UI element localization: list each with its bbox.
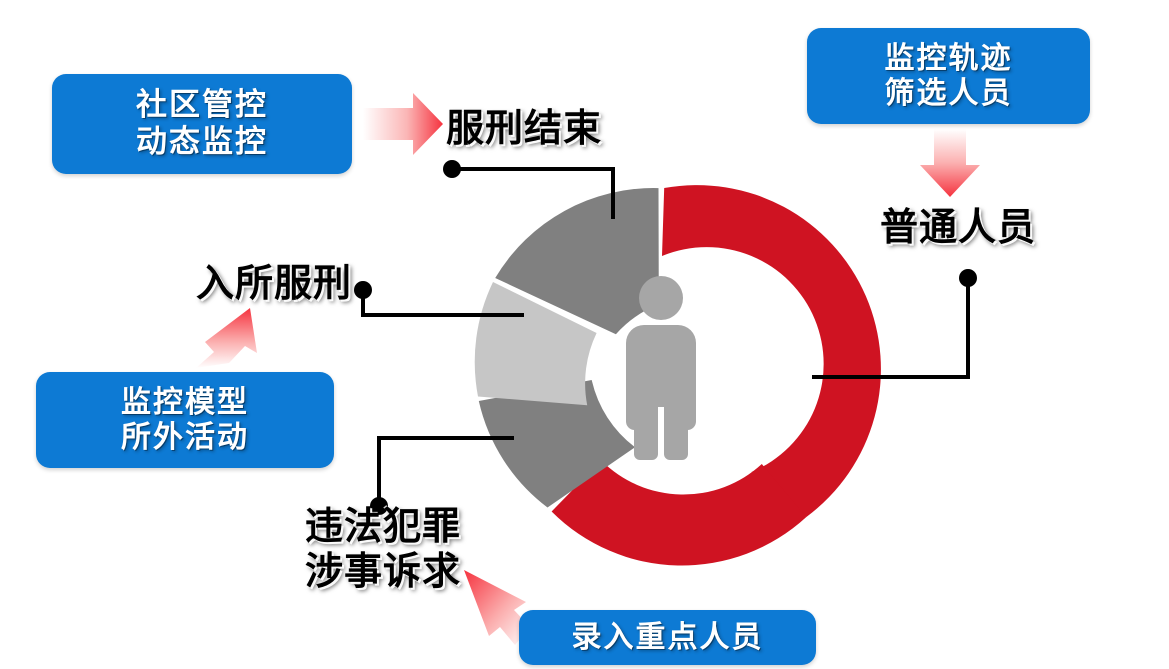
label-crime-and-appeal: 违法犯罪 涉事诉求 [305, 505, 461, 595]
blue-box-line: 社区管控 [136, 87, 268, 124]
blue-box-monitor-track[interactable]: 监控轨迹 筛选人员 [807, 28, 1090, 124]
blue-box-line: 所外活动 [121, 420, 249, 455]
blue-box-line: 录入重点人员 [572, 620, 764, 655]
label-enter-prison: 入所服刑 [196, 263, 352, 306]
blue-box-enroll-key-person[interactable]: 录入重点人员 [519, 610, 816, 665]
blue-box-community-control[interactable]: 社区管控 动态监控 [52, 74, 352, 174]
label-line: 普通人员 [880, 207, 1036, 250]
arrow-down-red-icon [920, 129, 980, 197]
blue-box-line: 监控模型 [121, 385, 249, 420]
leader-dot-sentence-end [443, 160, 461, 178]
leader-dot-enter-prison [354, 281, 372, 299]
label-line: 服刑结束 [446, 108, 602, 151]
leader-line-crime-appeal [379, 438, 514, 505]
blue-box-line: 筛选人员 [885, 76, 1013, 111]
blue-box-monitor-model[interactable]: 监控模型 所外活动 [36, 372, 334, 468]
arrow-up-red-icon [196, 308, 257, 368]
label-line: 入所服刑 [196, 263, 352, 306]
blue-box-line: 动态监控 [136, 124, 268, 161]
diagram-canvas: 社区管控 动态监控 监控轨迹 筛选人员 监控模型 所外活动 录入重点人员 服刑结… [0, 0, 1169, 669]
label-line: 涉事诉求 [305, 550, 461, 595]
label-line: 违法犯罪 [305, 505, 461, 550]
label-ordinary-person: 普通人员 [880, 207, 1036, 250]
arrow-right-red-icon [363, 93, 443, 155]
leader-dot-ordinary-person [959, 269, 977, 287]
blue-box-line: 监控轨迹 [885, 41, 1013, 76]
label-sentence-end: 服刑结束 [446, 108, 602, 151]
